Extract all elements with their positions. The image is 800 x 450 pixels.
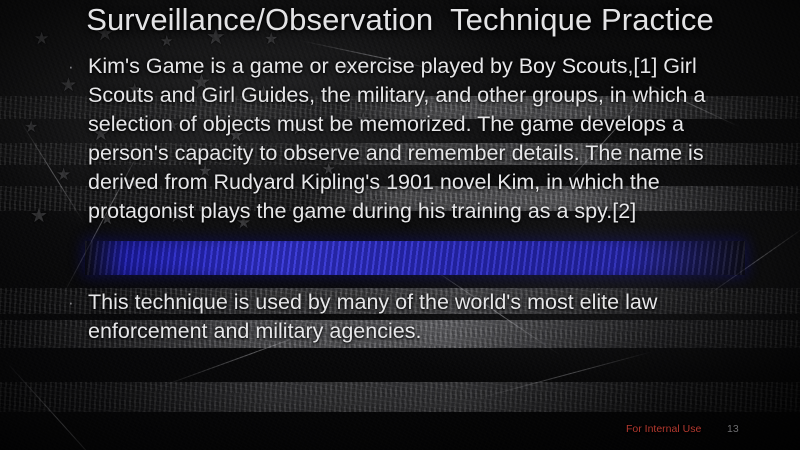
page-title: Surveillance/Observation Technique Pract…: [0, 2, 800, 38]
bullet-dot-icon: ·: [60, 288, 88, 317]
list-item: · Kim's Game is a game or exercise playe…: [60, 52, 760, 226]
confidentiality-note: For Internal Use: [626, 423, 701, 435]
presentation-slide: ★ ★ ★ ★ ★ ★ ★ ★ ★ ★ ★ ★ ★ ★ ★ ★ ★ ★ ★ ★ …: [0, 0, 800, 450]
list-item-text: This technique is used by many of the wo…: [88, 288, 760, 346]
bullet-dot-icon: ·: [60, 52, 88, 81]
list-item: · This technique is used by many of the …: [60, 288, 760, 346]
slide-body: · Kim's Game is a game or exercise playe…: [60, 52, 760, 346]
list-item-text: Kim's Game is a game or exercise played …: [88, 52, 760, 226]
page-number: 13: [727, 423, 739, 435]
